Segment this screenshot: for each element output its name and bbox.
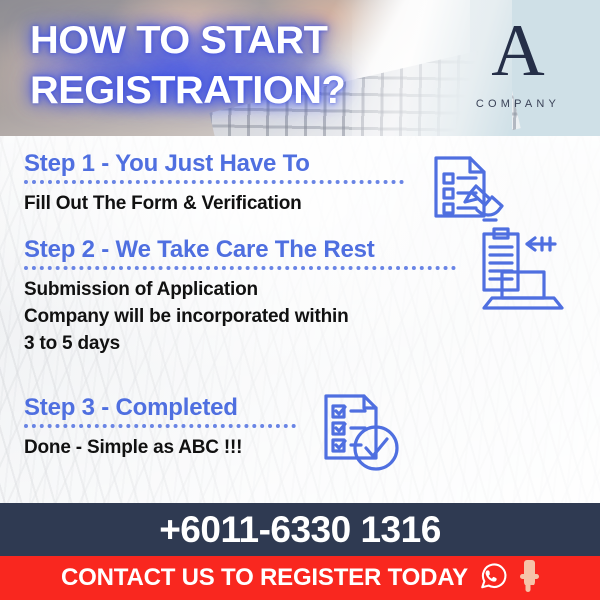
cta-bar[interactable]: CONTACT US TO REGISTER TODAY xyxy=(0,556,600,600)
laptop-clipboard-pencil-icon xyxy=(472,226,572,312)
step-2: Step 2 - We Take Care The Rest Submissio… xyxy=(24,236,456,357)
steps-section: Step 1 - You Just Have To Fill Out The F… xyxy=(0,136,600,503)
company-logo: A COMPANY xyxy=(458,14,578,110)
poster: HOW TO START REGISTRATION? A COMPANY Ste… xyxy=(0,0,600,600)
page-title: HOW TO START REGISTRATION? xyxy=(30,16,438,116)
step-3-body-line-1: Done - Simple as ABC !!! xyxy=(24,434,296,461)
step-3-heading: Step 3 - Completed xyxy=(24,394,296,422)
step-2-divider xyxy=(24,266,456,270)
whatsapp-icon[interactable] xyxy=(478,561,508,596)
steps-list: Step 1 - You Just Have To Fill Out The F… xyxy=(0,136,600,503)
step-2-heading: Step 2 - We Take Care The Rest xyxy=(24,236,456,264)
phone-number[interactable]: +6011-6330 1316 xyxy=(159,510,441,550)
step-3: Step 3 - Completed Done - Simple as ABC … xyxy=(24,394,296,461)
step-1-heading: Step 1 - You Just Have To xyxy=(24,150,404,178)
step-1-divider xyxy=(24,180,404,184)
cta-label: CONTACT US TO REGISTER TODAY xyxy=(61,565,468,591)
page-title-line2: REGISTRATION? xyxy=(30,66,438,116)
phone-bar[interactable]: +6011-6330 1316 xyxy=(0,503,600,556)
step-2-body-line-1: Submission of Application xyxy=(24,276,456,303)
step-2-body-line-3: 3 to 5 days xyxy=(24,330,456,357)
page-title-line1: HOW TO START xyxy=(30,19,327,62)
header-banner: HOW TO START REGISTRATION? A COMPANY xyxy=(0,0,600,136)
step-3-divider xyxy=(24,424,296,428)
checklist-checkmark-icon xyxy=(312,384,404,476)
step-1-body-line-1: Fill Out The Form & Verification xyxy=(24,190,404,217)
step-2-body-line-2: Company will be incorporated within xyxy=(24,303,456,330)
logo-mark-a: A xyxy=(458,14,578,88)
form-hand-pen-icon xyxy=(420,144,506,230)
logo-company-name: COMPANY xyxy=(458,98,578,110)
cta-icon-group xyxy=(478,559,539,598)
step-1: Step 1 - You Just Have To Fill Out The F… xyxy=(24,150,404,217)
pointing-down-hand-icon xyxy=(517,559,539,598)
